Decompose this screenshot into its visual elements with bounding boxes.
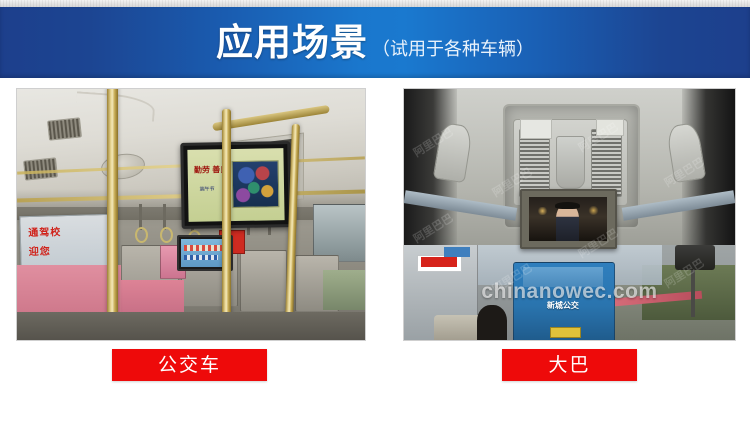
application-scenarios-page: 应用场景 （试用于各种车辆） — [0, 0, 750, 444]
outside-blue-bus-window — [523, 267, 602, 287]
coach-monitor-screen — [529, 197, 607, 241]
coach-passenger-head — [477, 305, 507, 340]
bus-hand-strap-2 — [163, 204, 166, 229]
caption-city-bus: 公交车 — [112, 349, 267, 381]
caption-coach-bus: 大巴 — [502, 349, 637, 381]
photo-city-bus[interactable]: 勤劳 善良 端午节 通驾校 迎您 — [16, 88, 366, 341]
bus-seat-3 — [240, 250, 287, 312]
bus-lcd-subline: 端午节 — [199, 187, 214, 192]
bus-ceiling-lcd-display: 勤劳 善良 端午节 — [180, 141, 292, 229]
page-title: 应用场景 — [216, 24, 368, 61]
photo-coach-bus[interactable]: 新城公交 阿里巴巴 阿里巴巴 — [403, 88, 736, 341]
bus-hand-ring-2 — [160, 227, 173, 243]
coach-ac-label-left — [520, 119, 552, 139]
bus-driving-school-banner: 通驾校 迎您 — [20, 213, 117, 268]
outside-bus-livery-text: 新城公交 — [523, 300, 602, 311]
bus-secondary-monitor-row-1 — [184, 245, 226, 251]
city-bus-illustration: 勤劳 善良 端午节 通驾校 迎您 — [17, 89, 365, 340]
banner-text-group: 应用场景 （试用于各种车辆） — [216, 24, 534, 61]
coach-monitor-person — [556, 204, 579, 241]
scenario-photo-row: 勤劳 善良 端午节 通驾校 迎您 — [0, 88, 750, 341]
bus-secondary-monitor-row-2 — [184, 255, 218, 260]
coach-ac-grille-right — [591, 129, 622, 198]
bus-side-window — [313, 204, 365, 261]
caption-city-bus-text: 公交车 — [158, 356, 221, 375]
coach-notice-board-red — [421, 257, 457, 267]
coach-ac-grille-left — [519, 129, 550, 198]
bus-stanchion-pole-2 — [222, 109, 231, 340]
bus-stanchion-pole-1 — [107, 89, 118, 340]
section-header-banner: 应用场景 （试用于各种车辆） — [0, 7, 750, 78]
outside-bus-license-plate — [550, 327, 582, 338]
banner-line-1: 通驾校 — [29, 223, 62, 239]
bus-lcd-image-area — [231, 160, 278, 208]
coach-ceiling-monitor — [520, 189, 617, 248]
coach-blue-sticker — [444, 247, 470, 257]
coach-ac-label-right — [596, 119, 624, 136]
coach-rearview-mirror — [675, 245, 715, 270]
caption-coach-bus-text: 大巴 — [548, 356, 590, 375]
bus-ceiling-vent-1 — [47, 117, 82, 140]
bus-rear-window — [323, 270, 365, 310]
top-texture-strip — [0, 0, 750, 7]
banner-line-2: 迎您 — [29, 242, 51, 258]
coach-ac-center-unit — [556, 136, 585, 189]
coach-monitor-stage-light-right — [588, 206, 599, 216]
page-subtitle: （试用于各种车辆） — [372, 40, 534, 58]
coach-bus-illustration: 新城公交 阿里巴巴 阿里巴巴 — [404, 89, 735, 340]
bus-lcd-screen-content: 勤劳 善良 端午节 — [187, 148, 285, 222]
bus-hand-strap-1 — [139, 204, 142, 229]
coach-monitor-stage-light-left — [537, 207, 548, 216]
bus-floor — [17, 312, 365, 340]
coach-monitor-person-hair — [555, 202, 580, 209]
